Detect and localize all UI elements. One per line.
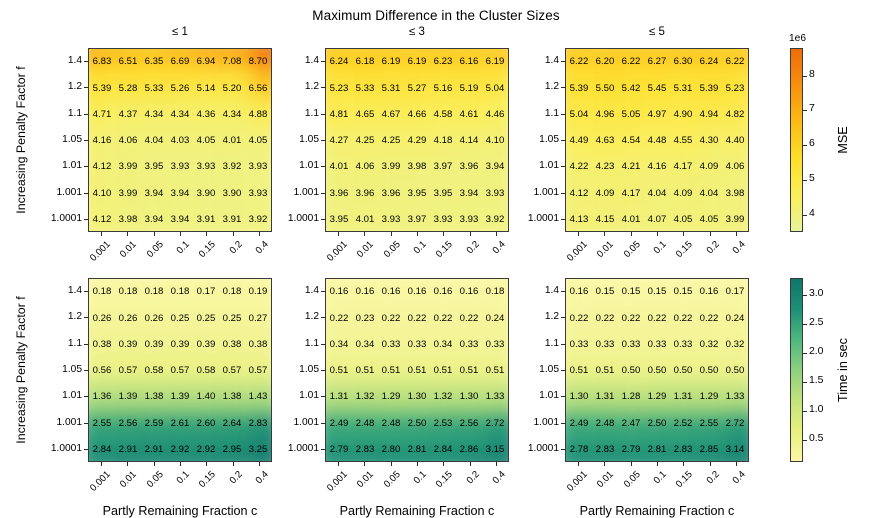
heatmap-cell: 0.51 [352,366,378,376]
heatmap-cell: 0.57 [245,366,271,376]
heatmap-cell: 5.16 [430,84,456,94]
x-tick-mark [206,462,207,466]
x-tick-mark [631,232,632,236]
heatmap-cell: 3.99 [115,189,141,199]
heatmap-cell: 5.14 [193,84,219,94]
heatmap-cell: 0.33 [644,340,670,350]
heatmap-cell: 2.83 [245,419,271,429]
heatmap-cell: 3.94 [456,189,482,199]
heatmap-cell: 6.35 [141,57,167,67]
heatmap-row: 2.842.912.912.922.922.953.25 [89,437,271,462]
heatmap-cell: 3.93 [193,162,219,172]
heatmap-row: 2.492.482.472.502.522.552.72 [566,410,748,436]
y-tick-mark [321,166,325,167]
heatmap-cell: 2.91 [115,445,141,455]
colorbar-tick-mark [803,353,807,354]
x-tick-mark [496,232,497,236]
heatmap-cell: 0.58 [141,366,167,376]
x-tick-mark [206,232,207,236]
x-tick-mark [259,232,260,236]
heatmap-cell: 4.05 [245,136,271,146]
heatmap-cell: 4.03 [167,136,193,146]
colorbar-tick-mark [803,110,807,111]
heatmap-cell: 4.88 [245,110,271,120]
y-tick-mark [561,449,565,450]
colorbar-mse [790,48,803,232]
heatmap-cell: 3.15 [482,445,508,455]
heatmap-cell: 0.19 [245,287,271,297]
heatmap-cell: 6.56 [245,84,271,94]
heatmap-cell: 0.32 [696,340,722,350]
y-tick-label: 1.4 [36,55,82,66]
heatmap-cell: 0.15 [618,287,644,297]
heatmap-cell: 0.16 [404,287,430,297]
x-tick-mark [259,462,260,466]
heatmap-panel-r0-c2: 6.226.206.226.276.306.246.225.395.505.42… [565,48,749,232]
heatmap-cell: 2.92 [167,445,193,455]
x-tick-mark [470,462,471,466]
heatmap-cell: 4.17 [670,162,696,172]
y-tick-label: 1.1 [36,338,82,349]
heatmap-row: 2.552.562.592.612.602.642.83 [89,410,271,436]
heatmap-cell: 5.19 [456,84,482,94]
colorbar-tick-mark [803,215,807,216]
heatmap-cell: 2.85 [696,445,722,455]
heatmap-cell: 0.57 [115,366,141,376]
heatmap-cell: 3.99 [378,162,404,172]
y-tick-mark [321,114,325,115]
heatmap-cell: 2.59 [141,419,167,429]
y-tick-label: 1.05 [513,364,559,375]
heatmap-cell: 0.33 [456,340,482,350]
heatmap-cell: 0.24 [482,314,508,324]
heatmap-cell: 5.31 [670,84,696,94]
heatmap-row: 4.123.983.943.943.913.913.92 [89,207,271,232]
heatmap-cell: 0.26 [89,314,115,324]
heatmap-cell: 0.22 [696,314,722,324]
heatmap-cell: 5.04 [482,84,508,94]
heatmap-row: 0.330.330.330.330.330.320.32 [566,332,748,358]
heatmap-cell: 2.53 [430,419,456,429]
heatmap-cell: 2.61 [167,419,193,429]
heatmap-cell: 4.12 [566,189,592,199]
heatmap-cell: 0.16 [378,287,404,297]
heatmap-row: 3.954.013.933.973.933.933.92 [326,207,508,232]
x-tick-mark [391,462,392,466]
y-tick-mark [321,87,325,88]
y-tick-mark [561,423,565,424]
heatmap-row: 5.235.335.315.275.165.195.04 [326,75,508,101]
y-tick-label: 1.2 [273,311,319,322]
y-tick-mark [84,140,88,141]
heatmap-row: 4.274.254.254.294.184.144.10 [326,128,508,154]
heatmap-cell: 4.58 [430,110,456,120]
heatmap-cell: 0.17 [722,287,748,297]
y-tick-label: 1.001 [513,187,559,198]
x-tick-mark [657,232,658,236]
y-tick-label: 1.0001 [36,443,82,454]
x-tick-mark [154,462,155,466]
heatmap-cell: 4.40 [722,136,748,146]
heatmap-cell: 0.56 [89,366,115,376]
heatmap-cell: 3.95 [430,189,456,199]
x-tick-mark [683,232,684,236]
y-tick-mark [561,87,565,88]
heatmap-cell: 4.04 [644,189,670,199]
heatmap-cell: 0.22 [618,314,644,324]
heatmap-cell: 4.18 [430,136,456,146]
heatmap-cell: 6.23 [430,57,456,67]
heatmap-cell: 4.06 [115,136,141,146]
heatmap-cell: 5.23 [722,84,748,94]
heatmap-cell: 2.55 [89,419,115,429]
heatmap-cell: 2.55 [696,419,722,429]
x-tick-mark [127,462,128,466]
heatmap-row: 2.782.832.792.812.832.853.14 [566,437,748,462]
y-tick-label: 1.0001 [273,213,319,224]
heatmap-cell: 5.26 [167,84,193,94]
heatmap-cell: 4.55 [670,136,696,146]
heatmap-cell: 0.22 [592,314,618,324]
heatmap-cell: 3.98 [722,189,748,199]
x-axis-title: Partly Remaining Fraction c [543,504,771,518]
y-tick-mark [561,370,565,371]
heatmap-cell: 2.48 [378,419,404,429]
y-tick-label: 1.01 [273,160,319,171]
heatmap-cell: 3.92 [245,215,271,225]
heatmap-cell: 5.27 [404,84,430,94]
heatmap-cell: 4.23 [592,162,618,172]
x-tick-mark [233,462,234,466]
x-tick-mark [496,462,497,466]
heatmap-cell: 2.72 [482,419,508,429]
heatmap-cell: 4.10 [482,136,508,146]
y-tick-label: 1.001 [36,417,82,428]
heatmap-cell: 4.09 [670,189,696,199]
heatmap-cell: 0.50 [618,366,644,376]
colorbar-tick-label: 6 [809,138,815,149]
x-tick-mark [736,462,737,466]
colorbar-tick-label: 7 [809,103,815,114]
y-tick-label: 1.1 [36,108,82,119]
y-tick-mark [84,449,88,450]
y-tick-label: 1.001 [273,417,319,428]
heatmap-cell: 1.32 [430,392,456,402]
heatmap-cell: 4.96 [592,110,618,120]
heatmap-cell: 4.34 [219,110,245,120]
heatmap-cell: 0.22 [670,314,696,324]
x-tick-mark [417,462,418,466]
y-tick-label: 1.2 [36,81,82,92]
heatmap-cell: 2.48 [352,419,378,429]
heatmap-cell: 4.06 [722,162,748,172]
y-tick-mark [561,219,565,220]
heatmap-cell: 0.33 [378,340,404,350]
heatmap-cell: 1.32 [352,392,378,402]
heatmap-row: 4.134.154.014.074.054.053.99 [566,207,748,232]
heatmap-row: 4.103.993.943.943.903.903.93 [89,180,271,206]
heatmap-cell: 3.94 [167,189,193,199]
colorbar-tick-label: 2.0 [809,346,823,357]
x-tick-mark [683,462,684,466]
heatmap-cell: 1.33 [722,392,748,402]
heatmap-cell: 6.22 [618,57,644,67]
heatmap-cell: 4.97 [644,110,670,120]
heatmap-cell: 2.81 [404,445,430,455]
heatmap-row: 0.380.390.390.390.390.380.38 [89,332,271,358]
heatmap-cell: 6.24 [696,57,722,67]
heatmap-cell: 4.46 [482,110,508,120]
heatmap-cell: 4.21 [618,162,644,172]
heatmap-cell: 3.93 [456,215,482,225]
heatmap-cell: 4.09 [592,189,618,199]
heatmap-row: 0.160.150.150.150.150.160.17 [566,279,748,305]
heatmap-cell: 2.84 [89,445,115,455]
y-tick-mark [84,166,88,167]
x-tick-mark [443,232,444,236]
heatmap-cell: 1.29 [378,392,404,402]
x-tick-mark [631,462,632,466]
colorbar-tick-label: 2.5 [809,317,823,328]
heatmap-row: 0.560.570.580.570.580.570.57 [89,358,271,384]
heatmap-cell: 0.26 [115,314,141,324]
heatmap-cell: 1.28 [618,392,644,402]
x-tick-mark [101,232,102,236]
heatmap-cell: 3.95 [326,215,352,225]
heatmap-cell: 0.22 [644,314,670,324]
heatmap-cell: 5.28 [115,84,141,94]
heatmap-cell: 4.12 [89,162,115,172]
heatmap-cell: 0.18 [141,287,167,297]
heatmap-cell: 1.43 [245,392,271,402]
y-tick-mark [321,193,325,194]
heatmap-cell: 2.95 [219,445,245,455]
heatmap-cell: 3.93 [482,189,508,199]
x-tick-mark [710,232,711,236]
y-tick-mark [321,423,325,424]
heatmap-row: 0.160.160.160.160.160.160.18 [326,279,508,305]
heatmap-cell: 0.18 [89,287,115,297]
heatmap-cell: 6.19 [378,57,404,67]
heatmap-cell: 4.49 [566,136,592,146]
colorbar-tick-mark [803,411,807,412]
heatmap-cell: 6.22 [722,57,748,67]
heatmap-cell: 4.48 [644,136,670,146]
heatmap-cell: 3.95 [141,162,167,172]
heatmap-cell: 1.40 [193,392,219,402]
heatmap-row: 6.836.516.356.696.947.088.70 [89,49,271,75]
heatmap-cell: 4.16 [644,162,670,172]
heatmap-cell: 0.22 [566,314,592,324]
heatmap-cell: 4.17 [618,189,644,199]
heatmap-cell: 3.25 [245,445,271,455]
y-tick-label: 1.01 [513,390,559,401]
colorbar-time [790,278,803,462]
heatmap-row: 0.260.260.260.250.250.250.27 [89,305,271,331]
x-tick-mark [578,232,579,236]
heatmap-cell: 4.27 [326,136,352,146]
heatmap-row: 6.226.206.226.276.306.246.22 [566,49,748,75]
heatmap-cell: 0.33 [566,340,592,350]
y-tick-label: 1.05 [273,364,319,375]
colorbar-tick-mark [803,440,807,441]
y-tick-label: 1.2 [273,81,319,92]
y-tick-mark [321,449,325,450]
heatmap-cell: 1.36 [89,392,115,402]
heatmap-row: 0.220.230.220.220.220.220.24 [326,305,508,331]
y-tick-mark [561,396,565,397]
heatmap-row: 0.510.510.500.500.500.500.50 [566,358,748,384]
x-tick-mark [417,232,418,236]
heatmap-cell: 0.25 [219,314,245,324]
x-tick-mark [443,462,444,466]
y-tick-label: 1.4 [513,285,559,296]
heatmap-cell: 2.56 [115,419,141,429]
x-tick-mark [578,462,579,466]
heatmap-panel-r0-c1: 6.246.186.196.196.236.166.195.235.335.31… [325,48,509,232]
heatmap-cell: 5.50 [592,84,618,94]
heatmap-cell: 5.39 [89,84,115,94]
y-tick-label: 1.4 [513,55,559,66]
heatmap-cell: 0.39 [193,340,219,350]
y-tick-label: 1.1 [273,108,319,119]
heatmap-cell: 0.34 [352,340,378,350]
heatmap-cell: 2.50 [644,419,670,429]
y-tick-mark [84,317,88,318]
y-tick-label: 1.1 [513,108,559,119]
heatmap-cell: 0.22 [404,314,430,324]
y-tick-label: 1.1 [513,338,559,349]
heatmap-cell: 1.39 [115,392,141,402]
heatmap-cell: 4.01 [219,136,245,146]
heatmap-cell: 1.31 [326,392,352,402]
heatmap-cell: 0.38 [219,340,245,350]
heatmap-cell: 0.22 [326,314,352,324]
heatmap-cell: 0.16 [696,287,722,297]
heatmap-cell: 5.39 [696,84,722,94]
heatmap-cell: 5.39 [566,84,592,94]
heatmap-cell: 0.18 [482,287,508,297]
y-tick-label: 1.05 [36,134,82,145]
x-tick-mark [736,232,737,236]
heatmap-cell: 4.54 [618,136,644,146]
heatmap-row: 6.246.186.196.196.236.166.19 [326,49,508,75]
heatmap-cell: 5.45 [644,84,670,94]
heatmap-cell: 0.22 [456,314,482,324]
heatmap-cell: 0.16 [430,287,456,297]
colorbar-tick-mark [803,324,807,325]
heatmap-cell: 3.94 [141,215,167,225]
heatmap-cell: 2.83 [352,445,378,455]
heatmap-cell: 2.48 [592,419,618,429]
y-tick-label: 1.4 [36,285,82,296]
heatmap-cell: 3.95 [404,189,430,199]
heatmap-cell: 3.93 [167,162,193,172]
y-tick-label: 1.01 [273,390,319,401]
heatmap-cell: 5.33 [141,84,167,94]
colorbar-tick-label: 5 [809,173,815,184]
heatmap-cell: 0.38 [89,340,115,350]
heatmap-row: 0.340.340.330.330.340.330.33 [326,332,508,358]
heatmap-cell: 4.25 [378,136,404,146]
y-tick-mark [321,291,325,292]
heatmap-panel-r1-c0: 0.180.180.180.180.170.180.190.260.260.26… [88,278,272,462]
heatmap-cell: 0.51 [592,366,618,376]
heatmap-cell: 3.98 [404,162,430,172]
heatmap-cell: 6.69 [167,57,193,67]
y-tick-mark [84,87,88,88]
heatmap-panel-r1-c2: 0.160.150.150.150.150.160.170.220.220.22… [565,278,749,462]
y-tick-mark [561,291,565,292]
y-tick-label: 1.001 [273,187,319,198]
heatmap-cell: 6.19 [482,57,508,67]
y-tick-label: 1.05 [36,364,82,375]
heatmap-cell: 4.36 [193,110,219,120]
x-tick-mark [127,232,128,236]
heatmap-cell: 1.29 [696,392,722,402]
x-axis-title: Partly Remaining Fraction c [303,504,531,518]
heatmap-row: 1.311.321.291.301.321.301.33 [326,384,508,410]
heatmap-cell: 4.63 [592,136,618,146]
x-tick-mark [657,462,658,466]
heatmap-row: 4.124.094.174.044.094.043.98 [566,180,748,206]
heatmap-cell: 2.80 [378,445,404,455]
heatmap-cell: 4.10 [89,189,115,199]
heatmap-cell: 2.79 [326,445,352,455]
heatmap-cell: 6.51 [115,57,141,67]
heatmap-cell: 2.78 [566,445,592,455]
y-tick-label: 1.01 [513,160,559,171]
heatmap-cell: 3.97 [430,162,456,172]
y-tick-label: 1.2 [513,81,559,92]
y-tick-mark [84,291,88,292]
heatmap-cell: 0.50 [644,366,670,376]
heatmap-cell: 3.92 [219,162,245,172]
heatmap-cell: 3.91 [219,215,245,225]
y-tick-mark [84,423,88,424]
heatmap-cell: 0.18 [167,287,193,297]
heatmap-row: 4.714.374.344.344.364.344.88 [89,102,271,128]
heatmap-cell: 3.90 [219,189,245,199]
heatmap-cell: 1.29 [644,392,670,402]
heatmap-row: 0.180.180.180.180.170.180.19 [89,279,271,305]
heatmap-cell: 0.33 [482,340,508,350]
heatmap-row: 4.814.654.674.664.584.614.46 [326,102,508,128]
heatmap-cell: 2.64 [219,419,245,429]
heatmap-cell: 3.91 [193,215,219,225]
x-axis-title: Partly Remaining Fraction c [66,504,294,518]
colorbar-tick-label: 1.0 [809,404,823,415]
heatmap-cell: 3.14 [722,445,748,455]
y-axis-title: Increasing Penalty Factor f [14,48,28,232]
heatmap-cell: 4.25 [352,136,378,146]
column-title-1: ≤ 3 [325,26,509,38]
heatmap-cell: 0.15 [670,287,696,297]
x-tick-mark [233,232,234,236]
heatmap-cell: 3.92 [482,215,508,225]
heatmap-row: 2.792.832.802.812.842.863.15 [326,437,508,462]
heatmap-cell: 6.30 [670,57,696,67]
y-tick-mark [84,61,88,62]
heatmap-cell: 0.34 [326,340,352,350]
y-tick-mark [321,140,325,141]
heatmap-row: 5.395.285.335.265.145.206.56 [89,75,271,101]
column-title-0: ≤ 1 [88,26,272,38]
heatmap-cell: 4.13 [566,215,592,225]
heatmap-cell: 0.17 [193,287,219,297]
heatmap-cell: 4.65 [352,110,378,120]
y-tick-mark [561,317,565,318]
